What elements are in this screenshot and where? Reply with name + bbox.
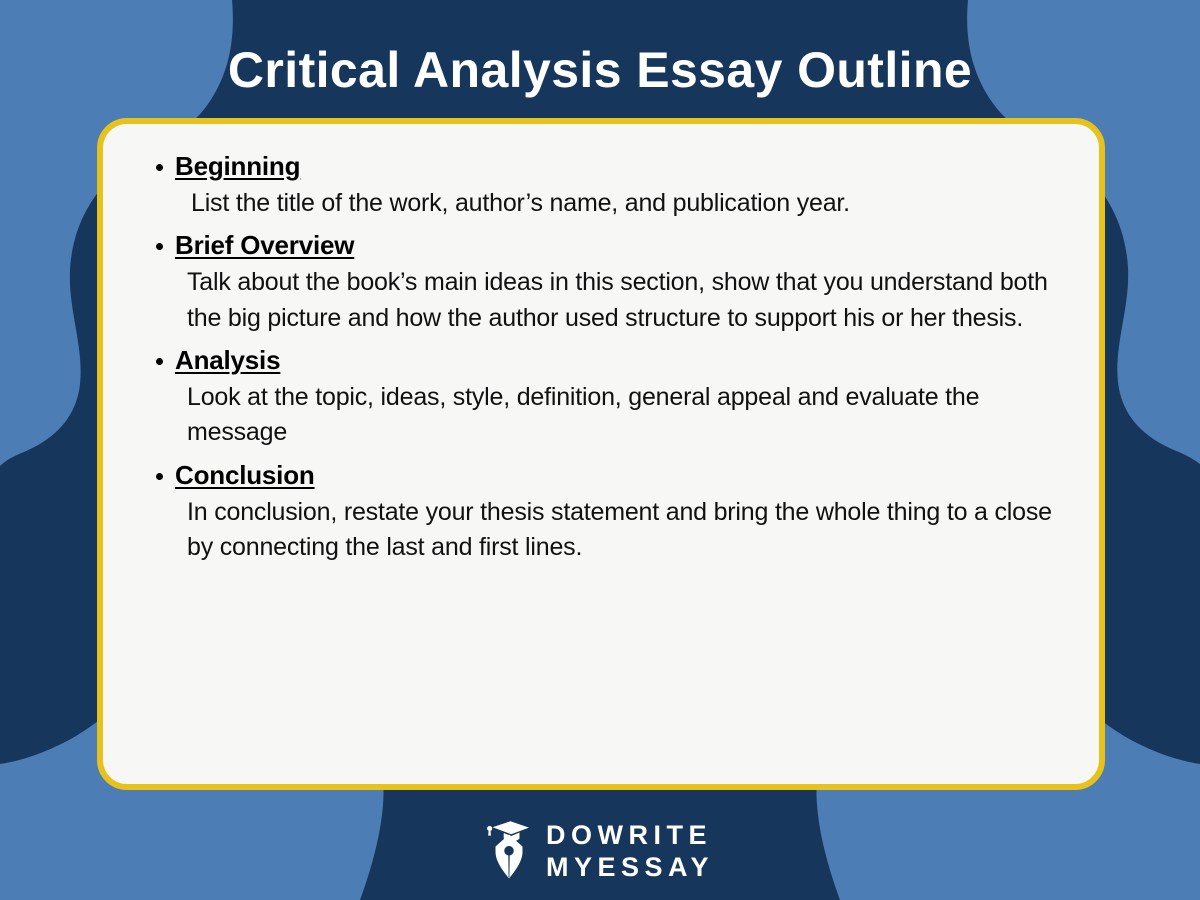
outline-body: Talk about the book’s main ideas in this… — [187, 265, 1065, 336]
poster-canvas: Critical Analysis Essay Outline Beginnin… — [0, 0, 1200, 900]
brand-wordmark: DOWRITE MYESSAY — [546, 821, 714, 880]
list-item: Beginning List the title of the work, au… — [147, 150, 1065, 221]
brand-line-1: DOWRITE — [546, 821, 714, 849]
outline-card: Beginning List the title of the work, au… — [97, 118, 1105, 790]
bullet-icon — [156, 358, 163, 365]
outline-heading: Analysis — [175, 344, 280, 378]
outline-body: List the title of the work, author’s nam… — [191, 186, 1053, 222]
page-title: Critical Analysis Essay Outline — [0, 44, 1200, 97]
outline-body: Look at the topic, ideas, style, definit… — [187, 380, 1047, 451]
list-item: Conclusion In conclusion, restate your t… — [147, 459, 1065, 566]
outline-heading: Conclusion — [175, 459, 315, 493]
brand-logo: DOWRITE MYESSAY — [0, 820, 1200, 882]
outline-heading: Brief Overview — [175, 229, 354, 263]
bullet-icon — [156, 473, 163, 480]
bullet-icon — [156, 243, 163, 250]
outline-list: Beginning List the title of the work, au… — [147, 150, 1065, 566]
brand-line-2: MYESSAY — [546, 853, 714, 881]
pen-nib-graduation-cap-icon — [486, 820, 532, 882]
list-item: Analysis Look at the topic, ideas, style… — [147, 344, 1065, 451]
outline-heading: Beginning — [175, 150, 300, 184]
outline-body: In conclusion, restate your thesis state… — [187, 495, 1065, 566]
list-item: Brief Overview Talk about the book’s mai… — [147, 229, 1065, 336]
bullet-icon — [156, 164, 163, 171]
